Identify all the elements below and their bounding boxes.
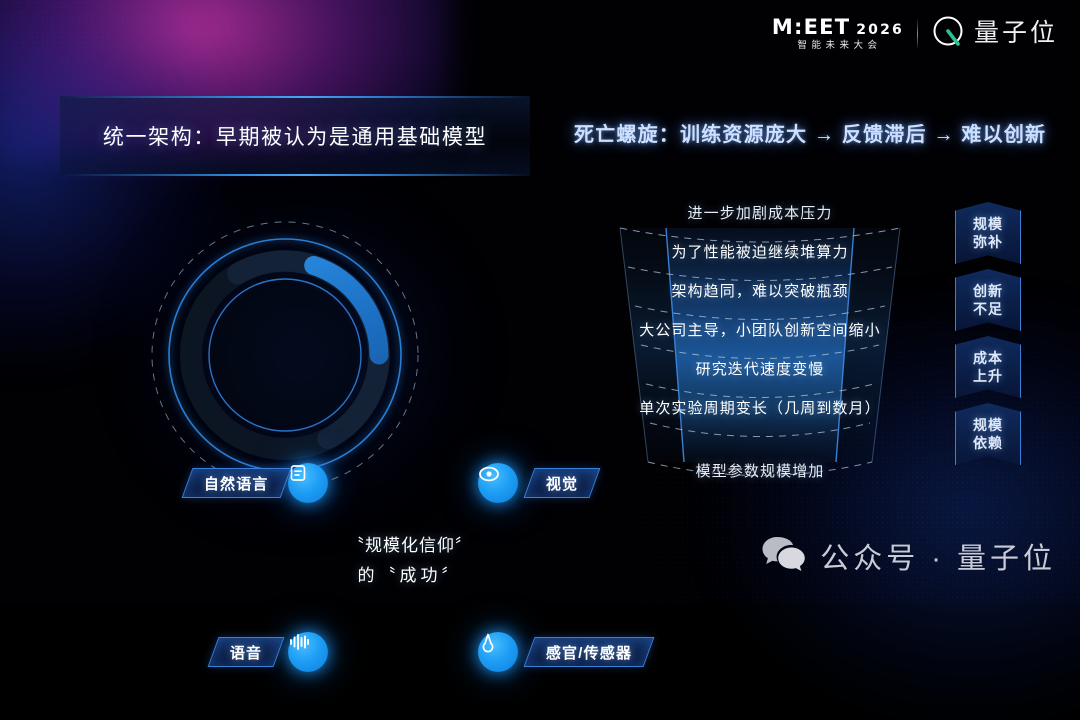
chevron-badge-2[interactable]: 成本 上升 <box>955 336 1021 398</box>
logo-divider <box>917 18 918 50</box>
chevron-badge-2-line2: 上升 <box>973 367 1003 385</box>
qbit-wordmark: 量子位 <box>974 21 1058 46</box>
left-title-panel: 统一架构：早期被认为是通用基础模型 <box>60 96 530 176</box>
funnel-row-3: 大公司主导，小团队创新空间缩小 <box>560 319 960 340</box>
funnel-row-1: 为了性能被迫继续堆算力 <box>560 241 960 262</box>
center-text-line1: 〝规模化信仰〞 <box>315 531 505 561</box>
label-natural-language: 自然语言 <box>182 468 292 498</box>
chevron-badge-3-line2: 依赖 <box>973 434 1003 452</box>
unified-architecture-diagram: 自然语言 视觉 语音 感官/传感器 〝规模化信仰〞 的〝成功〞 <box>125 215 445 495</box>
chevron-badge-1-line2: 不足 <box>973 300 1003 318</box>
funnel-row-4: 研究迭代速度变慢 <box>560 358 960 379</box>
qbit-logo: 量子位 <box>931 14 1058 53</box>
death-spiral-funnel: 进一步加剧成本压力 为了性能被迫继续堆算力 架构趋同，难以突破瓶颈 大公司主导，… <box>560 180 960 490</box>
funnel-row-2: 架构趋同，难以突破瓶颈 <box>560 280 960 301</box>
label-natural-language-text: 自然语言 <box>204 473 269 494</box>
left-title: 统一架构：早期被认为是通用基础模型 <box>103 121 487 151</box>
meet-subtitle: 智能未来大会 <box>794 41 881 51</box>
node-vision[interactable] <box>478 463 518 503</box>
watermark: 公众号 · 量子位 <box>760 534 1056 577</box>
label-sensor-text: 感官/传感器 <box>546 642 632 663</box>
q-circle-icon <box>931 14 965 53</box>
funnel-row-5: 单次实验周期变长（几周到数月） <box>560 397 960 418</box>
chevron-badge-0[interactable]: 规模 弥补 <box>955 202 1021 264</box>
center-text-line2: 的〝成功〞 <box>315 561 505 591</box>
meet-year: 2026 <box>856 23 904 37</box>
node-sensor[interactable] <box>478 632 518 672</box>
chevron-badge-2-line1: 成本 <box>973 349 1003 367</box>
watermark-text: 公众号 · 量子位 <box>820 535 1056 577</box>
chevron-badge-1-line1: 创新 <box>973 282 1003 300</box>
meet-logo-row: M:EET 2026 <box>772 17 904 38</box>
chevron-badge-3-line1: 规模 <box>973 416 1003 434</box>
right-title: 死亡螺旋：训练资源庞大 → 反馈滞后 → 难以创新 <box>574 118 1044 147</box>
funnel-row-0: 进一步加剧成本压力 <box>560 202 960 223</box>
wechat-icon <box>760 534 806 577</box>
chevron-badge-3[interactable]: 规模 依赖 <box>955 403 1021 465</box>
meet-logo: M:EET 2026 智能未来大会 <box>772 17 904 51</box>
meet-wordmark: M:EET <box>772 17 850 38</box>
chevron-badge-0-line2: 弥补 <box>973 233 1003 251</box>
circle-rings <box>125 215 445 495</box>
chevron-badge-0-line1: 规模 <box>973 215 1003 233</box>
brand-logo: M:EET 2026 智能未来大会 量子位 <box>772 14 1058 53</box>
label-sensor: 感官/传感器 <box>524 637 655 667</box>
funnel-row-6: 模型参数规模增加 <box>560 460 960 481</box>
node-natural-language[interactable] <box>288 463 328 503</box>
label-speech-text: 语音 <box>230 642 262 663</box>
label-speech: 语音 <box>208 637 285 667</box>
node-speech[interactable] <box>288 632 328 672</box>
circle-center-text: 〝规模化信仰〞 的〝成功〞 <box>315 531 505 591</box>
chevron-badge-stack: 规模 弥补 创新 不足 成本 上升 规模 依赖 <box>955 202 1025 472</box>
chevron-badge-1[interactable]: 创新 不足 <box>955 269 1021 331</box>
